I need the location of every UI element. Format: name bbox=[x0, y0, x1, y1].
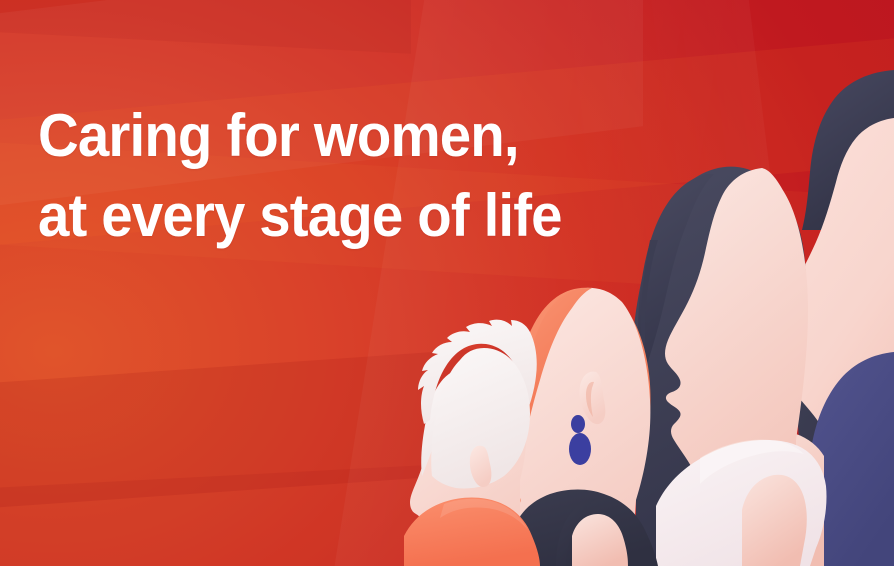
earring-drop-middle-aged-woman bbox=[569, 433, 591, 465]
banner-hero: Caring for women, at every stage of life bbox=[0, 0, 894, 566]
figure-elderly-woman bbox=[404, 320, 540, 566]
figure-adult-woman bbox=[629, 167, 826, 566]
headline-line-2: at every stage of life bbox=[38, 176, 562, 256]
arm-shape-adult-woman bbox=[742, 475, 807, 566]
women-profiles-illustration bbox=[0, 0, 894, 566]
headline-line-1: Caring for women, bbox=[38, 96, 562, 176]
page-title: Caring for women, at every stage of life bbox=[38, 96, 562, 257]
earring-stud-middle-aged-woman bbox=[571, 415, 585, 433]
